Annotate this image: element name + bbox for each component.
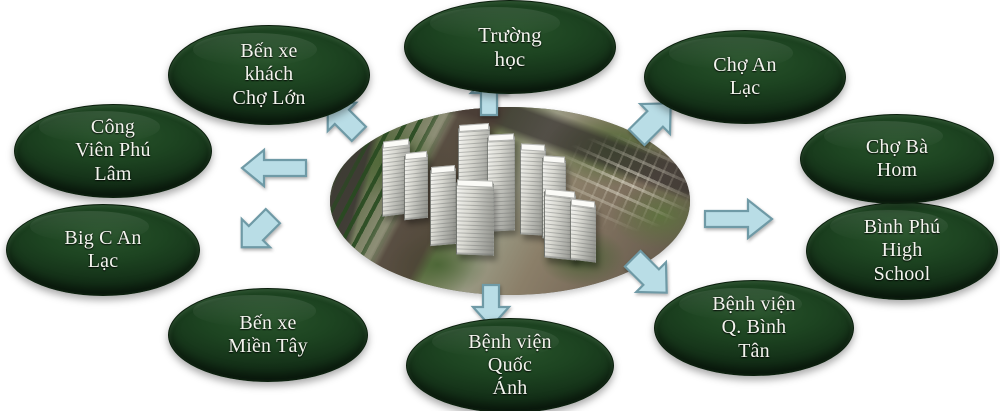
- node-ben-xe-mien-tay[interactable]: Bến xe Miền Tây: [168, 288, 368, 382]
- tower-block: [404, 154, 428, 221]
- node-cho-ba-hom[interactable]: Chợ Bà Hom: [800, 114, 994, 204]
- node-label: Bệnh viện Quốc Ánh: [460, 331, 559, 401]
- tower-block: [430, 168, 456, 246]
- node-label: Công Viên Phú Lâm: [67, 116, 158, 186]
- node-label: Chợ An Lạc: [705, 54, 784, 100]
- node-label: Chợ Bà Hom: [858, 136, 936, 182]
- node-label: Big C An Lạc: [56, 227, 149, 273]
- node-big-c-an-lac[interactable]: Big C An Lạc: [6, 204, 200, 296]
- node-cho-an-lac[interactable]: Chợ An Lạc: [644, 30, 846, 124]
- node-benh-vien-quoc-anh[interactable]: Bệnh viện Quốc Ánh: [406, 318, 614, 411]
- node-cong-vien-phu-lam[interactable]: Công Viên Phú Lâm: [14, 104, 212, 198]
- node-label: Bến xe Miền Tây: [220, 312, 316, 358]
- diagram-canvas: Trường học Bến xe khách Chợ Lớn Công Viê…: [0, 0, 1000, 411]
- node-label: Bến xe khách Chợ Lớn: [224, 40, 313, 110]
- node-label: Bình Phú High School: [856, 216, 949, 286]
- arrow-right-icon: [700, 196, 776, 242]
- arrow-down-left-icon: [230, 204, 286, 258]
- node-truong-hoc[interactable]: Trường học: [404, 0, 616, 94]
- arrow-left-icon: [238, 146, 310, 190]
- node-benh-vien-q-binh-tan[interactable]: Bệnh viện Q. Bình Tân: [654, 280, 854, 376]
- arrow-down-right-icon: [618, 246, 680, 304]
- node-label: Trường học: [470, 23, 550, 72]
- node-binh-phu-high-school[interactable]: Bình Phú High School: [806, 202, 998, 300]
- node-ben-xe-khach-cho-lon[interactable]: Bến xe khách Chợ Lớn: [168, 25, 370, 125]
- tower-block: [456, 182, 494, 255]
- tower-block: [570, 201, 596, 262]
- node-label: Bệnh viện Q. Bình Tân: [704, 293, 803, 363]
